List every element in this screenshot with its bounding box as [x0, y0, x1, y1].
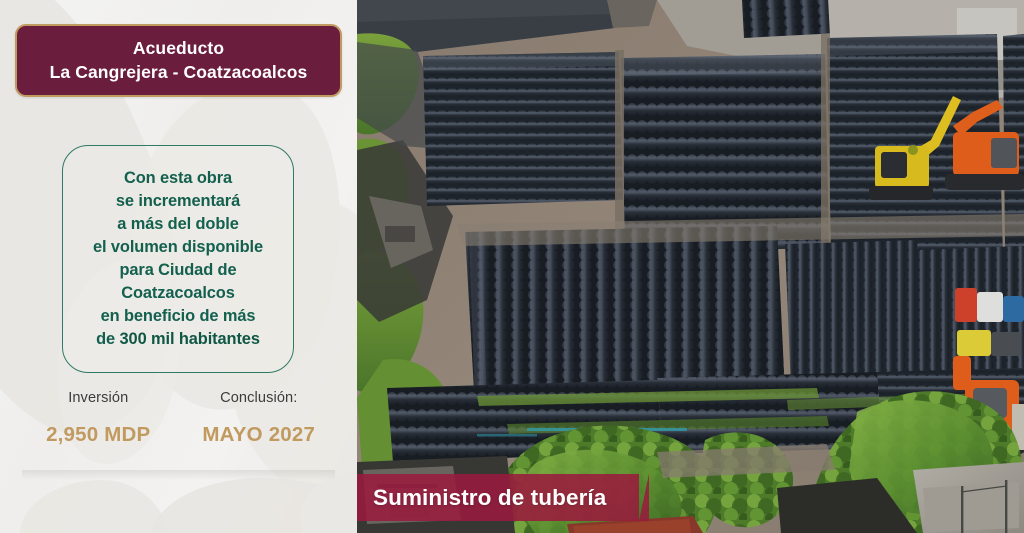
info-panel: Acueducto La Cangrejera - Coatzacoalcos …: [0, 0, 357, 533]
project-title-line-2: La Cangrejera - Coatzacoalcos: [50, 61, 308, 84]
benefit-line-5: para Ciudad de: [93, 259, 263, 282]
photo-caption-band: Suministro de tubería: [357, 474, 639, 521]
benefit-line-8-prefix: de: [96, 330, 119, 348]
benefit-statement-text: Con esta obra se incrementará a más del …: [90, 167, 266, 352]
aerial-photo-illustration: [357, 0, 1024, 533]
completion-label: Conclusión:: [179, 388, 340, 408]
project-title-card: Acueducto La Cangrejera - Coatzacoalcos: [15, 24, 342, 97]
project-title-line-1: Acueducto: [50, 37, 308, 60]
panel-divider-shadow: [22, 470, 335, 480]
figure-completion: Conclusión: MAYO 2027: [179, 388, 340, 447]
benefit-line-6: Coatzacoalcos: [93, 282, 263, 305]
project-title: Acueducto La Cangrejera - Coatzacoalcos: [50, 37, 308, 84]
benefit-line-8: de 300 mil habitantes: [93, 328, 263, 351]
investment-value: 2,950 MDP: [18, 423, 179, 447]
benefit-line-1: Con esta obra: [93, 167, 263, 190]
watermark-shape: [300, 470, 357, 533]
infographic-slide: Acueducto La Cangrejera - Coatzacoalcos …: [0, 0, 1024, 533]
benefit-line-2: se incrementará: [93, 190, 263, 213]
watermark-shape: [20, 480, 170, 533]
photo-caption-text: Suministro de tubería: [357, 485, 606, 511]
figure-investment: Inversión 2,950 MDP: [18, 388, 179, 447]
benefit-line-3: a más del doble: [93, 213, 263, 236]
benefit-line-4: el volumen disponible: [93, 236, 263, 259]
benefit-line-7: en beneficio de más: [93, 305, 263, 328]
project-figures: Inversión 2,950 MDP Conclusión: MAYO 202…: [0, 388, 357, 447]
aerial-photo: Suministro de tubería: [357, 0, 1024, 533]
investment-label: Inversión: [18, 388, 179, 408]
watermark-shape: [150, 478, 357, 533]
beneficiaries-highlight: 300 mil habitantes: [120, 330, 260, 348]
benefit-statement-box: Con esta obra se incrementará a más del …: [62, 145, 294, 373]
completion-value: MAYO 2027: [179, 423, 340, 447]
